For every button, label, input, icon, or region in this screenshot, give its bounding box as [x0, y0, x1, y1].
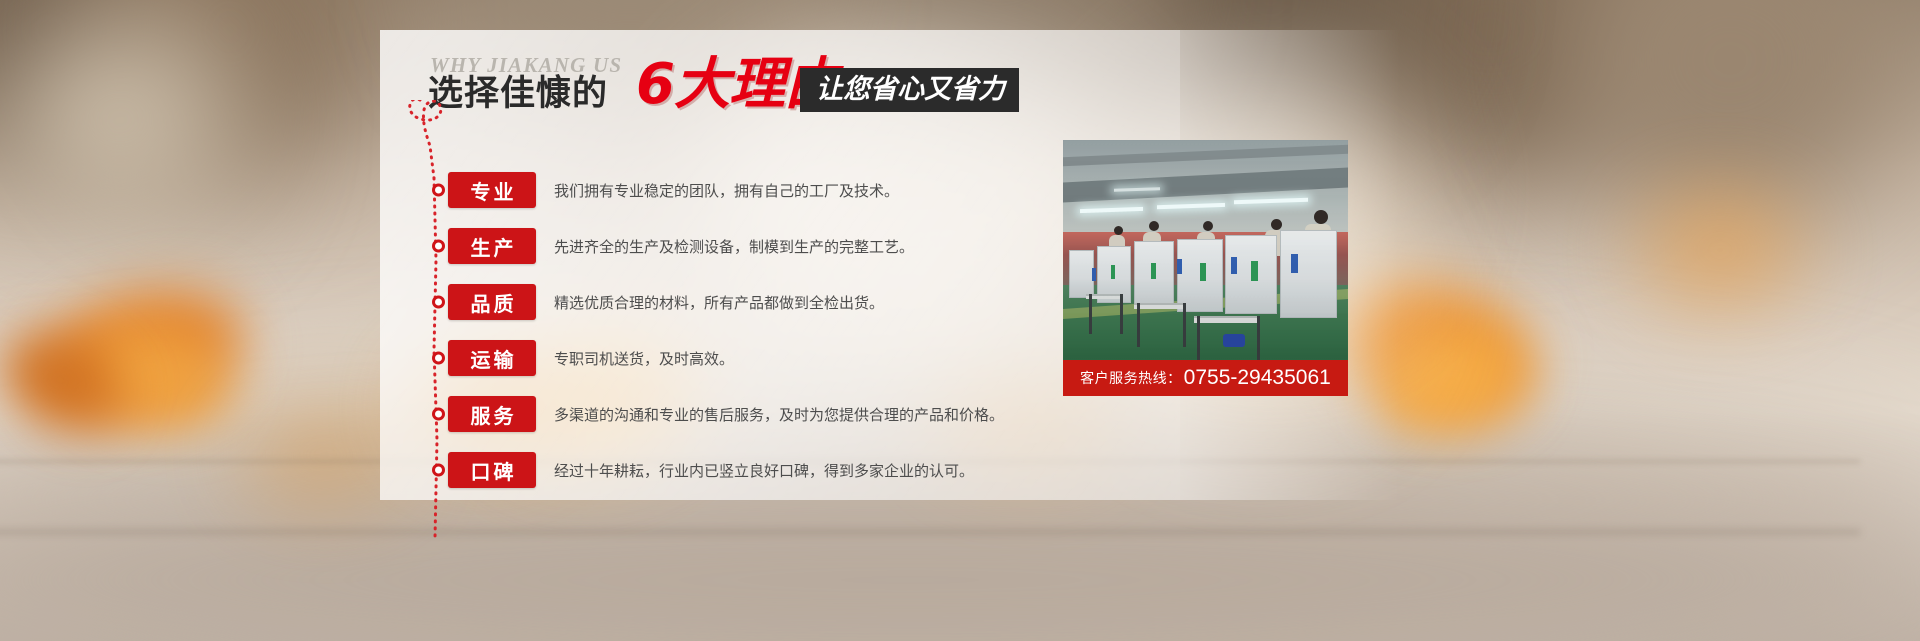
reason-description: 多渠道的沟通和专业的售后服务，及时为您提供合理的产品和价格。	[554, 404, 1004, 425]
reason-description: 精选优质合理的材料，所有产品都做到全检出货。	[554, 292, 884, 313]
reason-description: 经过十年耕耘，行业内已竖立良好口碑，得到多家企业的认可。	[554, 460, 974, 481]
hotline-label: 客户服务热线：	[1080, 368, 1182, 388]
reason-tag: 专业	[448, 172, 536, 208]
bullet-dot-icon	[432, 464, 445, 477]
bullet-dot-icon	[432, 408, 445, 421]
heading-tagline: 让您省心又省力	[800, 68, 1019, 112]
hotline-number: 0755-29435061	[1184, 366, 1331, 390]
reason-item: 专业 我们拥有专业稳定的团队，拥有自己的工厂及技术。	[436, 162, 1136, 218]
reason-list: 专业 我们拥有专业稳定的团队，拥有自己的工厂及技术。 生产 先进齐全的生产及检测…	[436, 162, 1136, 498]
bullet-dot-icon	[432, 184, 445, 197]
reason-tag: 运输	[448, 340, 536, 376]
reason-tag: 生产	[448, 228, 536, 264]
reason-tag: 服务	[448, 396, 536, 432]
reason-description: 专职司机送货，及时高效。	[554, 348, 734, 369]
bullet-dot-icon	[432, 296, 445, 309]
reason-item: 口碑 经过十年耕耘，行业内已竖立良好口碑，得到多家企业的认可。	[436, 442, 1136, 498]
reason-item: 生产 先进齐全的生产及检测设备，制模到生产的完整工艺。	[436, 218, 1136, 274]
reason-description: 我们拥有专业稳定的团队，拥有自己的工厂及技术。	[554, 180, 899, 201]
bullet-dot-icon	[432, 240, 445, 253]
reason-tag: 口碑	[448, 452, 536, 488]
bullet-dot-icon	[432, 352, 445, 365]
hotline-banner: 客户服务热线： 0755-29435061	[1063, 360, 1348, 396]
reason-tag: 品质	[448, 284, 536, 320]
reason-item: 运输 专职司机送货，及时高效。	[436, 330, 1136, 386]
factory-photo	[1063, 140, 1348, 360]
reason-item: 服务 多渠道的沟通和专业的售后服务，及时为您提供合理的产品和价格。	[436, 386, 1136, 442]
reason-description: 先进齐全的生产及检测设备，制模到生产的完整工艺。	[554, 236, 914, 257]
reason-item: 品质 精选优质合理的材料，所有产品都做到全检出货。	[436, 274, 1136, 330]
